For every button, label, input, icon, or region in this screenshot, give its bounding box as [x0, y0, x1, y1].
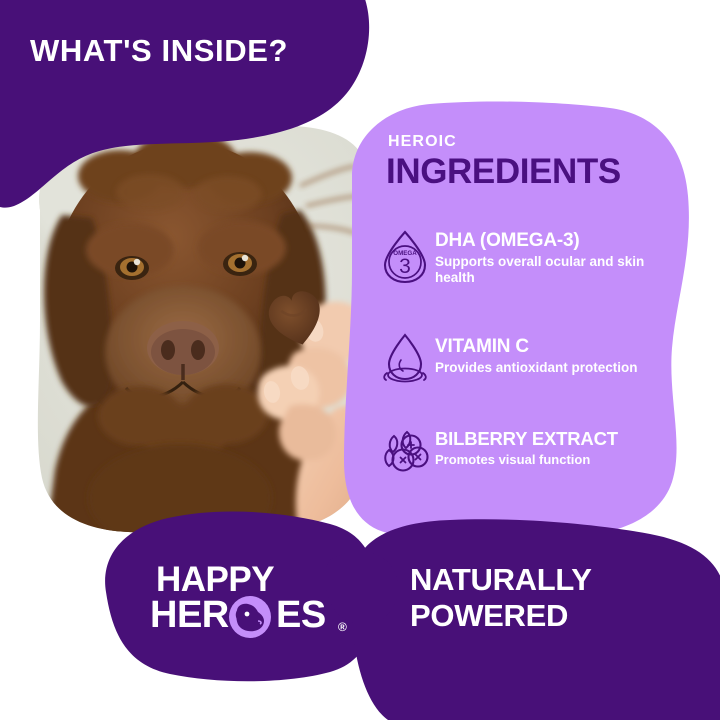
- page-title: WHAT'S INSIDE?: [30, 33, 360, 69]
- ingredient-name: VITAMIN C: [435, 336, 685, 358]
- omega-icon-number: 3: [399, 255, 411, 278]
- tagline-line-1: NATURALLY: [410, 562, 670, 598]
- ingredient-text-vitamin-c: VITAMIN C Provides antioxidant protectio…: [435, 336, 685, 376]
- tagline-line-2: POWERED: [410, 598, 670, 634]
- brand-logo: HAPPY HER ES ®: [150, 560, 360, 655]
- dog-head-icon: [228, 595, 272, 639]
- logo-line-heroes: HER ES ®: [150, 594, 355, 640]
- bilberry-berries-icon: [380, 424, 430, 480]
- tagline: NATURALLY POWERED: [410, 562, 670, 634]
- ingredients-kicker: HEROIC: [388, 133, 457, 151]
- water-droplet-ripple-icon: [380, 330, 430, 386]
- ingredient-name: DHA (OMEGA-3): [435, 230, 685, 252]
- registered-trademark-mark: ®: [338, 620, 347, 634]
- ingredient-description: Promotes visual function: [435, 452, 685, 468]
- logo-heroes-suffix: ES: [276, 594, 326, 637]
- ingredient-description: Provides antioxidant protection: [435, 360, 685, 376]
- ingredient-description: Supports overall ocular and skin health: [435, 254, 685, 286]
- omega-3-droplet-icon: OMEGA 3: [380, 228, 430, 284]
- product-infographic: WHAT'S INSIDE? HEROIC INGREDIENTS OMEGA …: [0, 0, 720, 720]
- ingredient-text-bilberry: BILBERRY EXTRACT Promotes visual functio…: [435, 428, 685, 468]
- ingredients-heading: INGREDIENTS: [386, 152, 621, 192]
- ingredient-name: BILBERRY EXTRACT: [435, 428, 685, 450]
- logo-heroes-prefix: HER: [150, 594, 229, 637]
- ingredient-text-dha: DHA (OMEGA-3) Supports overall ocular an…: [435, 230, 685, 286]
